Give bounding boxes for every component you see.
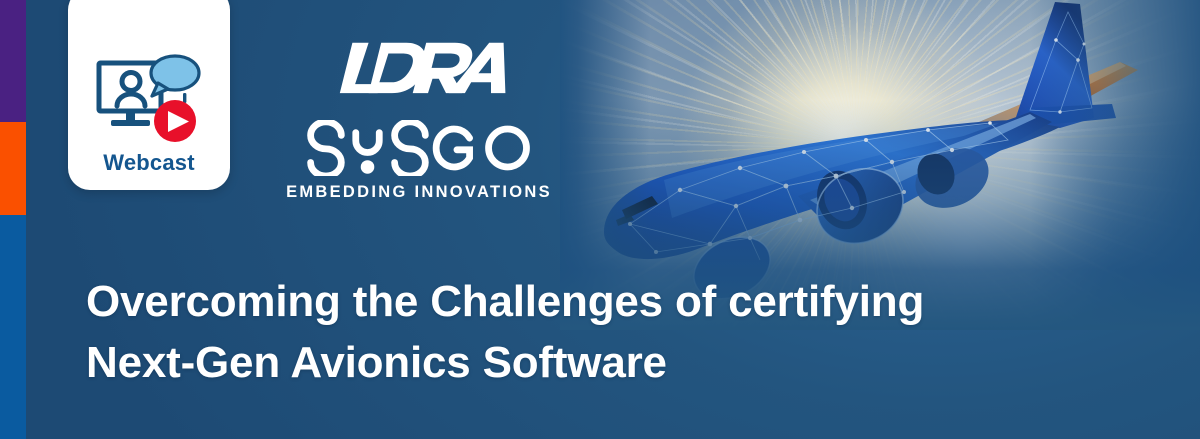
left-accent-bars	[0, 0, 26, 439]
sysgo-tagline: EMBEDDING INNOVATIONS	[284, 184, 554, 201]
webcast-badge: Webcast	[68, 0, 230, 190]
ldra-logo	[329, 36, 509, 98]
accent-bar-orange	[0, 122, 26, 215]
accent-bar-blue	[0, 215, 26, 439]
page-title-line-2: Next-Gen Avionics Software	[86, 333, 1136, 394]
page-title-line-1: Overcoming the Challenges of certifying	[86, 272, 1136, 333]
page-title: Overcoming the Challenges of certifying …	[86, 272, 1136, 393]
sysgo-logo	[301, 120, 537, 176]
sysgo-dot-icon	[361, 160, 375, 174]
accent-bar-purple	[0, 0, 26, 122]
webcast-banner: Webcast	[0, 0, 1200, 439]
webcast-label: Webcast	[103, 152, 194, 174]
logo-stack: EMBEDDING INNOVATIONS	[284, 36, 554, 201]
webcast-monitor-person-play-icon	[95, 52, 203, 144]
